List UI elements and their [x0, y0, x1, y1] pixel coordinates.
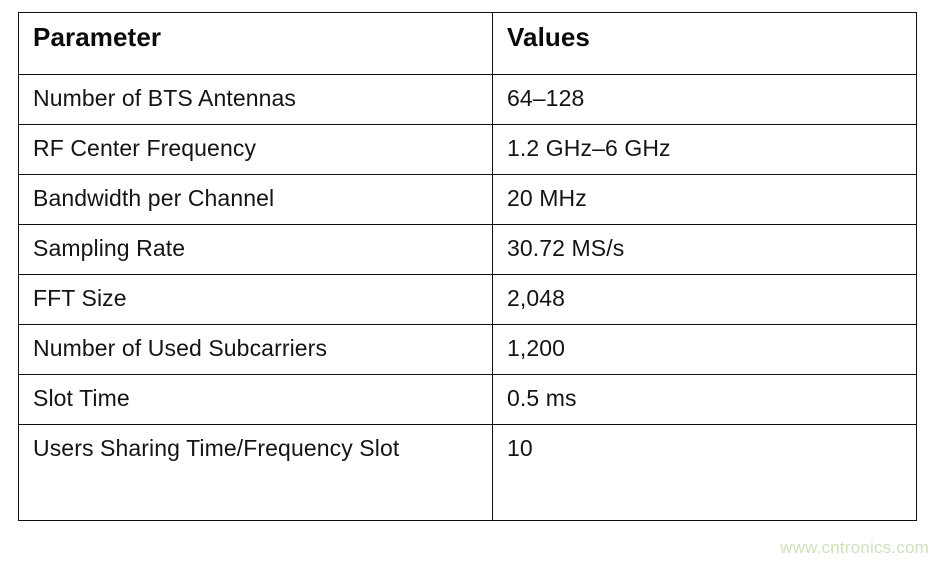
cell-value: 2,048: [493, 275, 917, 325]
table-row: Sampling Rate 30.72 MS/s: [19, 225, 917, 275]
table-header-row: Parameter Values: [19, 13, 917, 75]
table-header: Parameter Values: [19, 13, 917, 75]
column-header-values: Values: [493, 13, 917, 75]
table-row: Bandwidth per Channel 20 MHz: [19, 175, 917, 225]
cell-value: 1,200: [493, 325, 917, 375]
table-body: Number of BTS Antennas 64–128 RF Center …: [19, 75, 917, 521]
cell-value: 1.2 GHz–6 GHz: [493, 125, 917, 175]
cell-parameter: Number of Used Subcarriers: [19, 325, 493, 375]
cell-parameter-text: Users Sharing Time/Frequency Slot: [33, 434, 463, 464]
cell-value: 0.5 ms: [493, 375, 917, 425]
cell-parameter: Users Sharing Time/Frequency Slot: [19, 425, 493, 521]
cell-parameter: RF Center Frequency: [19, 125, 493, 175]
cell-value: 10: [493, 425, 917, 521]
cell-value: 20 MHz: [493, 175, 917, 225]
cell-parameter: Bandwidth per Channel: [19, 175, 493, 225]
cell-parameter: Sampling Rate: [19, 225, 493, 275]
table-row: Number of BTS Antennas 64–128: [19, 75, 917, 125]
cell-parameter: FFT Size: [19, 275, 493, 325]
site-watermark: www.cntronics.com: [780, 538, 929, 558]
column-header-parameter: Parameter: [19, 13, 493, 75]
table-row: FFT Size 2,048: [19, 275, 917, 325]
cell-value: 64–128: [493, 75, 917, 125]
table-row: Number of Used Subcarriers 1,200: [19, 325, 917, 375]
cell-parameter: Number of BTS Antennas: [19, 75, 493, 125]
cell-value: 30.72 MS/s: [493, 225, 917, 275]
system-parameters-table: Parameter Values Number of BTS Antennas …: [18, 12, 917, 521]
cell-parameter: Slot Time: [19, 375, 493, 425]
page-canvas: Parameter Values Number of BTS Antennas …: [0, 0, 935, 566]
table-row: RF Center Frequency 1.2 GHz–6 GHz: [19, 125, 917, 175]
table-row: Users Sharing Time/Frequency Slot 10: [19, 425, 917, 521]
table-row: Slot Time 0.5 ms: [19, 375, 917, 425]
